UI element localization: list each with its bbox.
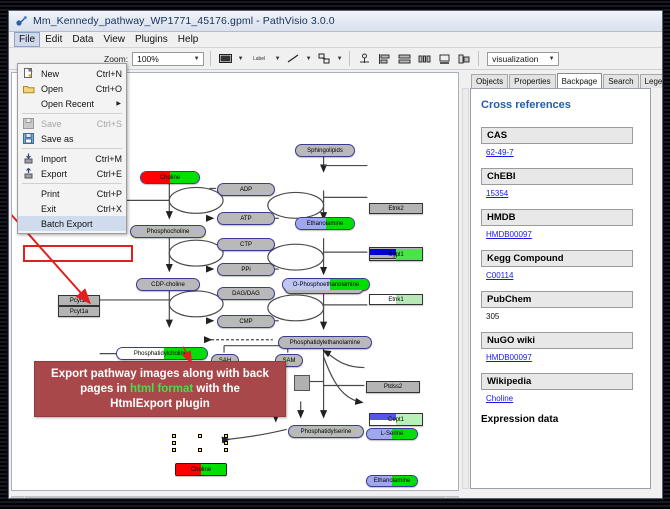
- annotation-line-2a: pages in: [80, 383, 130, 395]
- submenu-arrow-icon: ▶: [116, 100, 126, 107]
- selection-handle-se[interactable]: [224, 448, 228, 452]
- menu-file[interactable]: File: [14, 32, 40, 47]
- datanode-dropdown-icon[interactable]: ▼: [237, 56, 244, 62]
- menu-edit[interactable]: Edit: [40, 32, 67, 47]
- menu-separator-1: [22, 113, 122, 114]
- zoom-combo[interactable]: 100% ▼: [132, 52, 204, 66]
- stack-icon[interactable]: [396, 51, 412, 67]
- annotation-line-2b: with the: [193, 383, 240, 395]
- menu-item-batch-export[interactable]: Batch Export: [18, 216, 126, 231]
- node-cdp-choline[interactable]: CDP-choline: [136, 278, 200, 291]
- side-panel-tabs[interactable]: Objects Properties Backpage Search Legen…: [461, 73, 659, 88]
- interaction-dropdown-icon[interactable]: ▼: [336, 56, 343, 62]
- annotation-line-1: Export pathway images along with back: [51, 367, 269, 382]
- scroll-right-arrow[interactable]: ▶: [446, 497, 458, 499]
- xref-label-nugo: NuGO wiki: [481, 332, 633, 349]
- blank-icon-3: [21, 202, 36, 215]
- anchor-icon[interactable]: [356, 51, 372, 67]
- node-phosphatidylcholines[interactable]: Phosphatidylcholines: [116, 347, 208, 360]
- expression-data-heading: Expression data: [481, 414, 642, 425]
- selection-handle-w[interactable]: [172, 441, 176, 445]
- gene-pcyt1a[interactable]: Pcyt1a: [58, 306, 100, 317]
- selection-handle-sw[interactable]: [172, 448, 176, 452]
- node-phosphocholine[interactable]: Phosphocholine: [130, 225, 206, 238]
- label-tool-button[interactable]: Label: [248, 51, 270, 67]
- visualization-combo[interactable]: visualization ▼: [487, 52, 559, 66]
- node-sphingolipids[interactable]: Sphingolipids: [295, 144, 355, 157]
- menu-item-import[interactable]: Import Ctrl+M: [18, 151, 126, 166]
- node-phosphatidylserine[interactable]: Phosphatidylserine: [288, 425, 364, 438]
- blank-icon-4: [21, 217, 36, 230]
- menu-data[interactable]: Data: [67, 32, 98, 47]
- selection-handle-nw[interactable]: [172, 434, 176, 438]
- tab-legend[interactable]: Legend: [640, 74, 663, 88]
- node-phosphatidylethanolamine[interactable]: Phosphatidylethanolamine: [278, 336, 372, 349]
- label-tool-label: Label: [253, 56, 265, 62]
- annotation-line-3: HtmlExport plugin: [110, 397, 210, 412]
- tab-backpage[interactable]: Backpage: [557, 73, 603, 89]
- node-o-phosphoethanolamine[interactable]: O-Phosphoethanolamine: [282, 278, 370, 291]
- xref-label-pubchem: PubChem: [481, 291, 633, 308]
- group-icon[interactable]: [436, 51, 452, 67]
- gene-pcyt1b[interactable]: Pcyt1b: [58, 295, 100, 306]
- xref-value-nugo[interactable]: HMDB00097: [486, 353, 642, 362]
- export-icon: [21, 167, 36, 180]
- window-title: Mm_Kennedy_pathway_WP1771_45176.gpml - P…: [33, 15, 335, 27]
- save-icon: [21, 117, 36, 130]
- menu-item-export[interactable]: Export Ctrl+E: [18, 166, 126, 181]
- xref-value-hmdb[interactable]: HMDB00097: [486, 230, 642, 239]
- blank-icon: [21, 97, 36, 110]
- node-l-serine[interactable]: L-Serine: [366, 428, 418, 440]
- menu-item-exit[interactable]: Exit Ctrl+X: [18, 201, 126, 216]
- pathvisio-window: Mm_Kennedy_pathway_WP1771_45176.gpml - P…: [8, 10, 663, 499]
- xref-value-kegg[interactable]: C00114: [486, 271, 642, 280]
- tab-search[interactable]: Search: [603, 74, 638, 88]
- menu-item-open-recent[interactable]: Open Recent ▶: [18, 96, 126, 111]
- menu-bar[interactable]: File Edit Data View Plugins Help: [9, 32, 662, 48]
- import-icon: [21, 152, 36, 165]
- file-menu-popup[interactable]: New Ctrl+N Open Ctrl+O Open Recent ▶: [17, 63, 127, 234]
- datanode-icon[interactable]: [217, 51, 233, 67]
- xref-label-hmdb: HMDB: [481, 209, 633, 226]
- line-icon[interactable]: [285, 51, 301, 67]
- node-dag[interactable]: DAG/DAG: [217, 287, 275, 300]
- node-choline-selected[interactable]: Choline: [175, 463, 227, 476]
- align-icon[interactable]: [376, 51, 392, 67]
- xref-value-cas[interactable]: 62-49-7: [486, 148, 642, 157]
- chevron-down-icon: ▼: [192, 53, 201, 65]
- node-adp[interactable]: ADP: [217, 183, 275, 196]
- desktop-backdrop: Mm_Kennedy_pathway_WP1771_45176.gpml - P…: [0, 0, 670, 509]
- menu-separator-2: [22, 148, 122, 149]
- menu-item-open[interactable]: Open Ctrl+O: [18, 81, 126, 96]
- line-dropdown-icon[interactable]: ▼: [305, 56, 312, 62]
- toolbar-separator-2: [349, 51, 350, 66]
- pathvisio-icon: [15, 15, 28, 28]
- annotation-callout[interactable]: Export pathway images along with back pa…: [34, 361, 286, 417]
- order-icon[interactable]: [456, 51, 472, 67]
- visualization-value: visualization: [492, 54, 538, 64]
- node-cmp[interactable]: CMP: [217, 315, 275, 328]
- label-dropdown-icon[interactable]: ▼: [274, 56, 281, 62]
- zoom-value: 100%: [137, 54, 159, 64]
- selection-handle-n[interactable]: [198, 434, 202, 438]
- menu-item-save-as[interactable]: Save as: [18, 131, 126, 146]
- menu-item-save: Save Ctrl+S: [18, 116, 126, 131]
- new-file-icon: [21, 67, 36, 80]
- menu-item-new[interactable]: New Ctrl+N: [18, 66, 126, 81]
- menu-plugins[interactable]: Plugins: [130, 32, 173, 47]
- xref-label-chebi: ChEBI: [481, 168, 633, 185]
- blank-icon-2: [21, 187, 36, 200]
- backpage-content: Cross references CAS 62-49-7 ChEBI 15354…: [470, 88, 651, 489]
- selection-handle-s[interactable]: [198, 448, 202, 452]
- node-ctp[interactable]: CTP: [217, 238, 275, 251]
- chevron-down-icon-2: ▼: [547, 53, 556, 65]
- xref-value-wikipedia[interactable]: Choline: [486, 394, 642, 403]
- menu-help[interactable]: Help: [173, 32, 204, 47]
- save-as-icon: [21, 132, 36, 145]
- node-ethanolamine[interactable]: Ethanolamine: [295, 217, 355, 230]
- menu-separator-3: [22, 183, 122, 184]
- gene-etnk1[interactable]: Etnk1: [369, 294, 423, 305]
- annotation-anchor-box[interactable]: [294, 375, 310, 391]
- xref-label-kegg: Kegg Compound: [481, 250, 633, 267]
- toolbar-separator: [210, 51, 211, 66]
- scroll-left-arrow[interactable]: ◀: [12, 497, 24, 499]
- menu-view[interactable]: View: [98, 32, 130, 47]
- tab-objects[interactable]: Objects: [471, 74, 508, 88]
- tab-properties[interactable]: Properties: [509, 74, 555, 88]
- scroll-thumb[interactable]: [25, 497, 445, 499]
- title-bar: Mm_Kennedy_pathway_WP1771_45176.gpml - P…: [9, 11, 662, 32]
- xref-value-chebi[interactable]: 15354: [486, 189, 642, 198]
- gene-sgpl1[interactable]: Sgpl1: [369, 248, 423, 261]
- node-ppi[interactable]: PPi: [217, 263, 275, 276]
- toolbar-separator-3: [478, 51, 479, 66]
- node-atp[interactable]: ATP: [217, 212, 275, 225]
- side-panel: Objects Properties Backpage Search Legen…: [460, 70, 662, 499]
- interaction-icon[interactable]: [316, 51, 332, 67]
- node-ethanolamine-2[interactable]: Ethanolamine: [366, 475, 418, 487]
- selection-handle-e[interactable]: [224, 441, 228, 445]
- node-choline[interactable]: Choline: [140, 171, 200, 184]
- gene-cept1[interactable]: Cept1: [369, 413, 423, 426]
- menu-item-print[interactable]: Print Ctrl+P: [18, 186, 126, 201]
- distribute-icon[interactable]: [416, 51, 432, 67]
- annotation-line-2: pages in html format with the: [80, 382, 240, 397]
- open-folder-icon: [21, 82, 36, 95]
- gene-etnk2[interactable]: Etnk2: [369, 203, 423, 214]
- xref-label-wikipedia: Wikipedia: [481, 373, 633, 390]
- gene-ptdss2[interactable]: Ptdss2: [366, 381, 420, 393]
- annotation-html-format: html format: [130, 383, 193, 395]
- cross-references-heading: Cross references: [481, 99, 642, 111]
- xref-label-cas: CAS: [481, 127, 633, 144]
- canvas-horizontal-scrollbar[interactable]: ◀ ▶: [11, 496, 459, 499]
- xref-value-pubchem: 305: [486, 312, 642, 321]
- zoom-label: Zoom:: [104, 54, 128, 64]
- selection-handle-ne[interactable]: [224, 434, 228, 438]
- panel-left-rail[interactable]: [462, 88, 469, 489]
